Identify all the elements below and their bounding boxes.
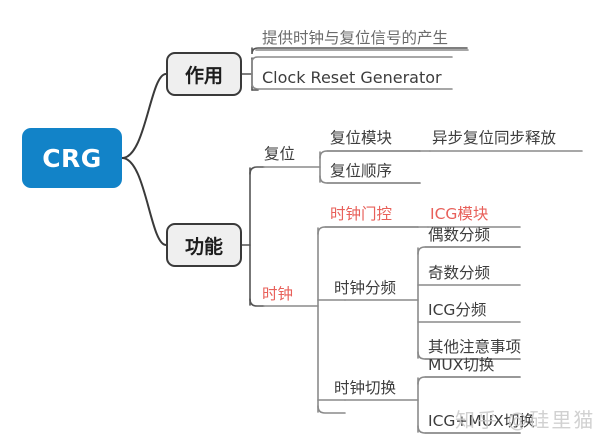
leaf-even-divide-label: 偶数分频 [428, 223, 490, 245]
leaf-clock-divider-label: 时钟分频 [334, 276, 396, 298]
leaf-odd-divide[interactable]: 奇数分频 [428, 257, 528, 285]
branch-node-zuoyong-label: 作用 [185, 61, 223, 88]
group-label-fuwei[interactable]: 复位 [264, 138, 318, 166]
leaf-clock-switch[interactable]: 时钟切换 [334, 372, 420, 400]
group-label-fuwei-text: 复位 [264, 142, 295, 164]
leaf-clock-reset-generator[interactable]: Clock Reset Generator [262, 60, 462, 89]
root-node-crg[interactable]: CRG [22, 128, 122, 188]
leaf-fuwei-module[interactable]: 复位模块 [330, 123, 420, 150]
leaf-clock-gating[interactable]: 时钟门控 [330, 199, 420, 226]
leaf-clock-divider[interactable]: 时钟分频 [334, 272, 420, 300]
leaf-fuwei-order[interactable]: 复位顺序 [330, 156, 420, 183]
leaf-odd-divide-label: 奇数分频 [428, 261, 490, 283]
leaf-fuwei-order-label: 复位顺序 [330, 159, 392, 181]
leaf-icg-divide[interactable]: ICG分频 [428, 294, 528, 322]
mindmap-canvas: CRG 作用 提供时钟与复位信号的产生 Clock Reset Generato… [0, 0, 600, 448]
group-label-shizhong[interactable]: 时钟 [262, 278, 316, 306]
group-label-shizhong-text: 时钟 [262, 282, 293, 304]
leaf-clock-switch-label: 时钟切换 [334, 376, 396, 398]
leaf-provide-clock-reset-label: 提供时钟与复位信号的产生 [262, 26, 448, 48]
leaf-async-reset-sync-release[interactable]: 异步复位同步释放 [432, 123, 582, 150]
leaf-async-reset-sync-release-label: 异步复位同步释放 [432, 126, 556, 148]
leaf-fuwei-module-label: 复位模块 [330, 126, 392, 148]
leaf-provide-clock-reset[interactable]: 提供时钟与复位信号的产生 [262, 22, 477, 50]
leaf-icg-divide-label: ICG分频 [428, 298, 486, 320]
leaf-mux-switch[interactable]: MUX切换 [428, 349, 538, 377]
leaf-even-divide[interactable]: 偶数分频 [428, 219, 528, 247]
leaf-clock-gating-label: 时钟门控 [330, 202, 392, 224]
leaf-icg-mux-switch[interactable]: ICG+MUX切换 [428, 405, 558, 433]
branch-node-gongneng-label: 功能 [185, 232, 223, 259]
branch-node-gongneng[interactable]: 功能 [166, 223, 242, 267]
leaf-mux-switch-label: MUX切换 [428, 353, 494, 375]
branch-node-zuoyong[interactable]: 作用 [166, 52, 242, 96]
leaf-icg-mux-switch-label: ICG+MUX切换 [428, 409, 535, 431]
leaf-clock-reset-generator-label: Clock Reset Generator [262, 68, 442, 87]
root-node-label: CRG [42, 144, 102, 173]
